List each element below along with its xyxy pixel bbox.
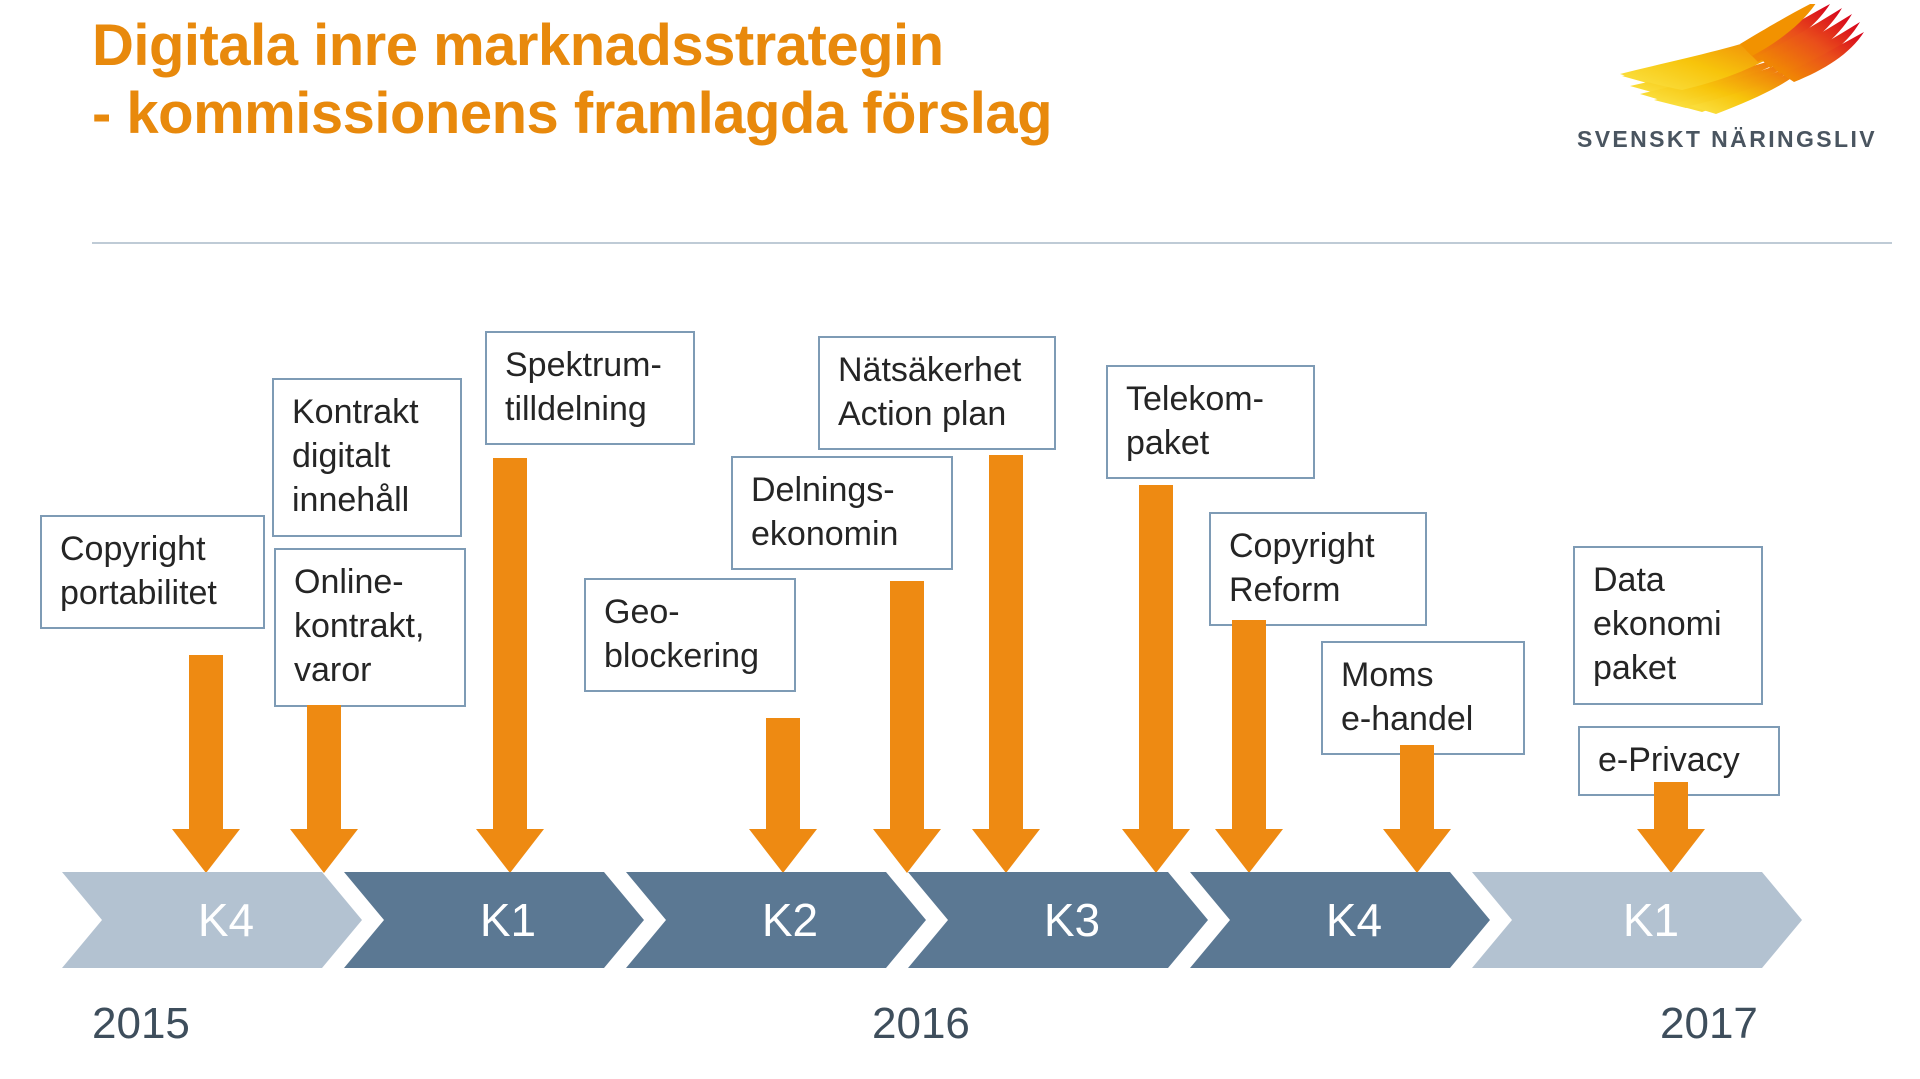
- timeline-segment-label: K2: [762, 897, 818, 943]
- timeline-segment-label: K3: [1044, 897, 1100, 943]
- arrow-spektrum-tilldelning: [493, 458, 527, 829]
- arrow-delningsekonomin: [890, 581, 924, 829]
- callout-online-kontrakt-varor: Online- kontrakt, varor: [274, 548, 466, 707]
- arrow-copyright-portabilitet: [189, 655, 223, 829]
- arrow-e-privacy: [1654, 782, 1688, 829]
- timeline-segment-label: K4: [198, 897, 254, 943]
- arrow-moms-e-handel: [1400, 745, 1434, 829]
- logo-wordmark: SVENSKT NÄRINGSLIV: [1562, 126, 1892, 153]
- timeline-segment-k3-3[interactable]: K3: [908, 872, 1208, 968]
- quarter-timeline: K4K1K2K3K4K1: [62, 872, 1890, 968]
- callout-delningsekonomin: Delnings- ekonomin: [731, 456, 953, 570]
- timeline-segment-label: K1: [480, 897, 536, 943]
- brand-logo: SVENSKT NÄRINGSLIV: [1562, 4, 1892, 174]
- timeline-segment-k2-2[interactable]: K2: [626, 872, 926, 968]
- year-label-2017: 2017: [1660, 1002, 1758, 1046]
- callout-telekom-paket: Telekom- paket: [1106, 365, 1315, 479]
- timeline-segment-k4-4[interactable]: K4: [1190, 872, 1490, 968]
- timeline-segment-label: K1: [1623, 897, 1679, 943]
- callout-copyright-portabilitet: Copyright portabilitet: [40, 515, 265, 629]
- callout-spektrum-tilldelning: Spektrum- tilldelning: [485, 331, 695, 445]
- arrow-copyright-reform: [1232, 620, 1266, 829]
- year-label-2015: 2015: [92, 1002, 190, 1046]
- year-label-2016: 2016: [872, 1002, 970, 1046]
- wing-icon: [1562, 4, 1892, 134]
- title-line-2: - kommissionens framlagda förslag: [92, 80, 1492, 148]
- arrow-telekom-paket: [1139, 485, 1173, 829]
- callout-natsakerhet-action-plan: Nätsäkerhet Action plan: [818, 336, 1056, 450]
- timeline-segment-k1-1[interactable]: K1: [344, 872, 644, 968]
- page-title: Digitala inre marknadsstrategin - kommis…: [92, 12, 1492, 149]
- callout-moms-e-handel: Moms e-handel: [1321, 641, 1525, 755]
- header-divider: [92, 242, 1892, 244]
- timeline-segment-k1-5[interactable]: K1: [1472, 872, 1802, 968]
- title-line-1: Digitala inre marknadsstrategin: [92, 12, 1492, 80]
- arrow-online-kontrakt-varor: [307, 705, 341, 829]
- timeline-segment-k4-0[interactable]: K4: [62, 872, 362, 968]
- callout-geo-blockering: Geo- blockering: [584, 578, 796, 692]
- callout-data-ekonomi-paket: Data ekonomi paket: [1573, 546, 1763, 705]
- arrow-natsakerhet-action-plan: [989, 455, 1023, 829]
- arrow-geo-blockering: [766, 718, 800, 829]
- slide-canvas: Digitala inre marknadsstrategin - kommis…: [0, 0, 1920, 1079]
- timeline-segment-label: K4: [1326, 897, 1382, 943]
- callout-kontrakt-digitalt-innehall: Kontrakt digitalt innehåll: [272, 378, 462, 537]
- callout-copyright-reform: Copyright Reform: [1209, 512, 1427, 626]
